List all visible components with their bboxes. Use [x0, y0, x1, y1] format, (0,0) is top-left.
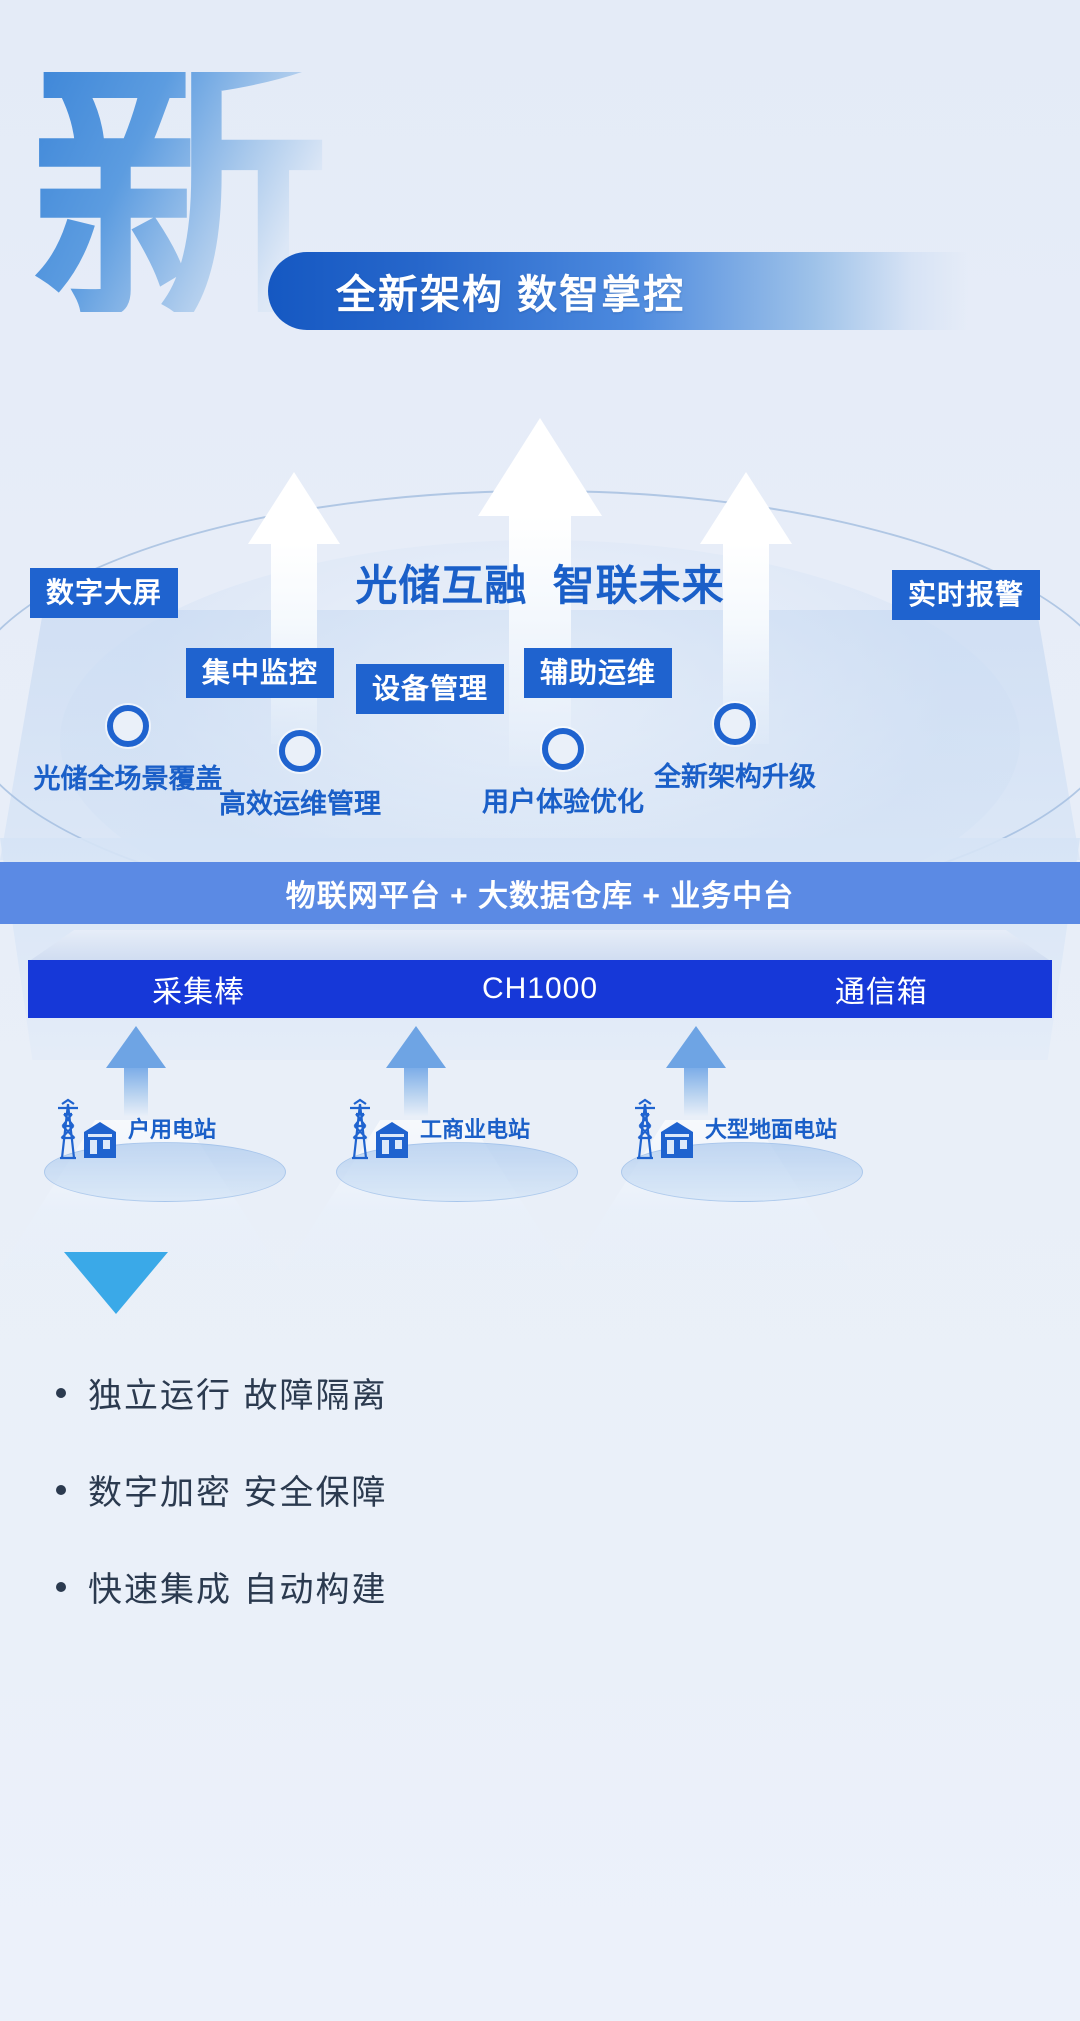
feature-coverage: 光储全场景覆盖: [28, 705, 228, 796]
platform-bar-text: 物联网平台 + 大数据仓库 + 业务中台: [286, 871, 794, 915]
device-item-collector[interactable]: 采集棒: [28, 967, 369, 1011]
feature-architecture-upgrade: 全新架构升级: [635, 703, 835, 794]
device-bar-top-face: [28, 930, 1052, 962]
station-label: 户用电站: [128, 1112, 216, 1144]
tag-realtime-alarm[interactable]: 实时报警: [892, 570, 1040, 620]
list-item: 数字加密 安全保障: [56, 1465, 996, 1514]
list-item-text: 独立运行 故障隔离: [88, 1368, 387, 1417]
station-label: 大型地面电站: [705, 1112, 837, 1144]
station-utility-scale: 大型地面电站: [585, 1090, 875, 1210]
tag-central-monitor[interactable]: 集中监控: [186, 648, 334, 698]
list-item: 独立运行 故障隔离: [56, 1368, 996, 1417]
tag-assisted-ops[interactable]: 辅助运维: [524, 648, 672, 698]
bullet-dot-icon: [56, 1388, 66, 1398]
list-item-text: 快速集成 自动构建: [88, 1562, 387, 1611]
device-bar: 采集棒 CH1000 通信箱: [28, 960, 1052, 1018]
station-label: 工商业电站: [420, 1112, 530, 1144]
feature-label: 光储全场景覆盖: [28, 757, 228, 796]
bullet-dot-icon: [56, 1485, 66, 1495]
arrow-head: [478, 418, 602, 516]
tag-device-mgmt[interactable]: 设备管理: [356, 664, 504, 714]
power-station-icon: [631, 1098, 707, 1171]
arrow-head: [248, 472, 340, 544]
ring-dot-icon: [107, 705, 149, 747]
arrow-head: [700, 472, 792, 544]
list-item: 快速集成 自动构建: [56, 1562, 996, 1611]
power-station-icon: [346, 1098, 422, 1171]
poster-root: 新 全新架构 数智掌控 光储互融 智联未来 数字大屏 实时报警 集中监控 设备管…: [0, 0, 1080, 2021]
hero-banner: 全新架构 数智掌控: [268, 252, 968, 330]
ring-dot-icon: [714, 703, 756, 745]
hero-banner-text: 全新架构 数智掌控: [336, 262, 685, 320]
ring-dot-icon: [279, 730, 321, 772]
feature-user-experience: 用户体验优化: [463, 728, 663, 819]
station-commercial: 工商业电站: [300, 1090, 590, 1210]
feature-label: 用户体验优化: [463, 780, 663, 819]
arrow-head: [386, 1026, 446, 1068]
feature-label: 高效运维管理: [200, 782, 400, 821]
device-item-ch1000[interactable]: CH1000: [369, 972, 710, 1006]
benefits-list: 独立运行 故障隔离 数字加密 安全保障 快速集成 自动构建: [56, 1368, 996, 1659]
ring-dot-icon: [542, 728, 584, 770]
feature-ops-efficiency: 高效运维管理: [200, 730, 400, 821]
station-residential: 户用电站: [8, 1090, 298, 1210]
platform-bar: 物联网平台 + 大数据仓库 + 业务中台: [0, 862, 1080, 924]
tag-digital-screen[interactable]: 数字大屏: [30, 568, 178, 618]
list-item-text: 数字加密 安全保障: [88, 1465, 387, 1514]
arrow-head: [666, 1026, 726, 1068]
arrow-head: [106, 1026, 166, 1068]
bullet-dot-icon: [56, 1582, 66, 1592]
device-item-comm-box[interactable]: 通信箱: [711, 967, 1052, 1011]
feature-label: 全新架构升级: [635, 755, 835, 794]
power-station-icon: [54, 1098, 130, 1171]
down-triangle-icon: [64, 1252, 168, 1314]
